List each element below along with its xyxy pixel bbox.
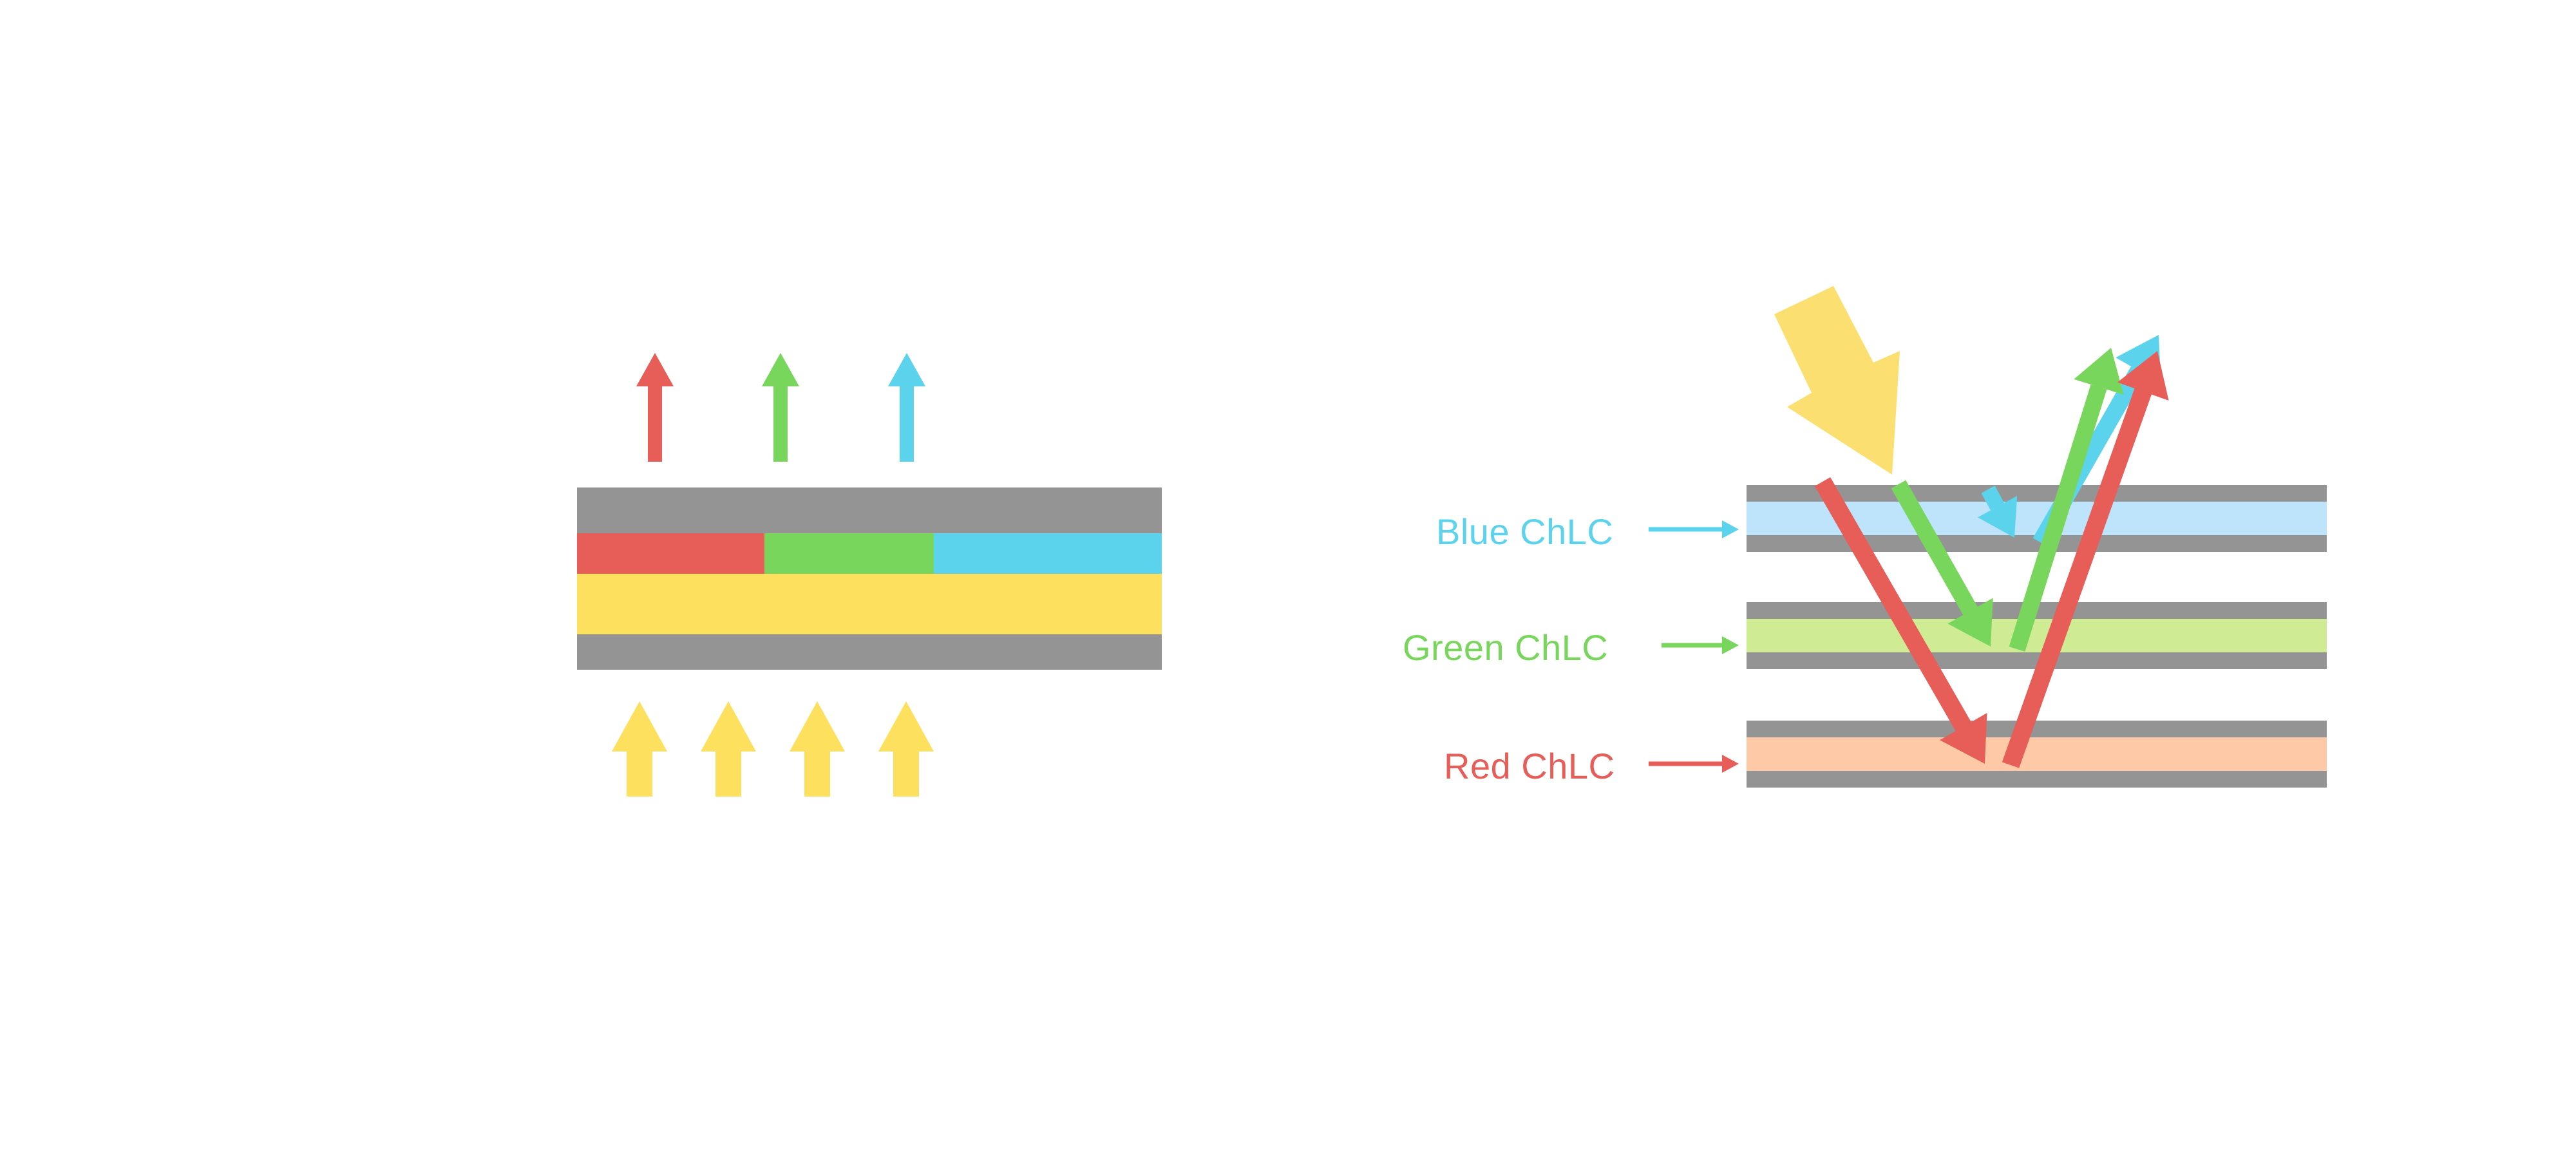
blue-label-pointer [1649, 520, 1739, 538]
red-filter [577, 533, 764, 574]
bottom-electrode [577, 634, 1162, 670]
backlight-arrow-2 [701, 701, 756, 797]
ambient-light-arrow [1774, 286, 1900, 475]
blue-chlc-group-label: Blue ChLC [1436, 514, 1613, 550]
red-top-electrode [1747, 721, 2327, 737]
blue-emitted-arrow [888, 353, 925, 462]
backlight-arrow-4 [878, 701, 934, 797]
red-chlc-group-label: Red ChLC [1444, 748, 1615, 784]
blue-filter [934, 533, 1162, 574]
backlight-arrow-1 [612, 701, 667, 797]
left-panel-group [577, 353, 1162, 797]
diagram-canvas: Blue ChLCGreen ChLCRed ChLC [0, 0, 2576, 1154]
green-reflected-ray-head [2074, 348, 2123, 399]
green-label-pointer-head [1722, 636, 1739, 654]
red-chlc-layer [1747, 737, 2327, 771]
red-chlc-group [1747, 721, 2327, 788]
green-filter [764, 533, 934, 574]
green-chlc-layer [1747, 619, 2327, 652]
colour-filter-row [577, 533, 1162, 574]
green-label-pointer [1662, 636, 1739, 654]
red-label-pointer [1649, 755, 1739, 773]
blue-label-pointer-head [1722, 520, 1739, 538]
green-chlc-group-label: Green ChLC [1403, 630, 1608, 666]
backlight-layer [577, 574, 1162, 634]
red-bottom-electrode [1747, 771, 2327, 788]
backlight-arrow-3 [790, 701, 845, 797]
red-emitted-arrow [636, 353, 674, 462]
green-emitted-arrow [762, 353, 799, 462]
top-electrode [577, 487, 1162, 533]
red-label-pointer-head [1722, 755, 1739, 773]
diagram-svg [0, 0, 2576, 1154]
right-panel-group [1649, 286, 2327, 788]
